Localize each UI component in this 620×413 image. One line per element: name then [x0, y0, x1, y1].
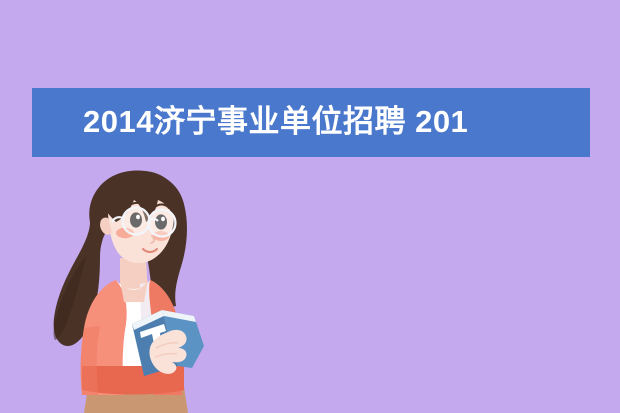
glasses-lens-left: [123, 208, 150, 235]
woman-reading-illustration: [28, 160, 238, 413]
slide-canvas: 2014济宁事业单位招聘 201: [0, 0, 620, 413]
glasses-lens-right: [149, 210, 176, 237]
page-title: 2014济宁事业单位招聘 201: [83, 105, 468, 139]
title-banner: 2014济宁事业单位招聘 201: [32, 88, 590, 157]
